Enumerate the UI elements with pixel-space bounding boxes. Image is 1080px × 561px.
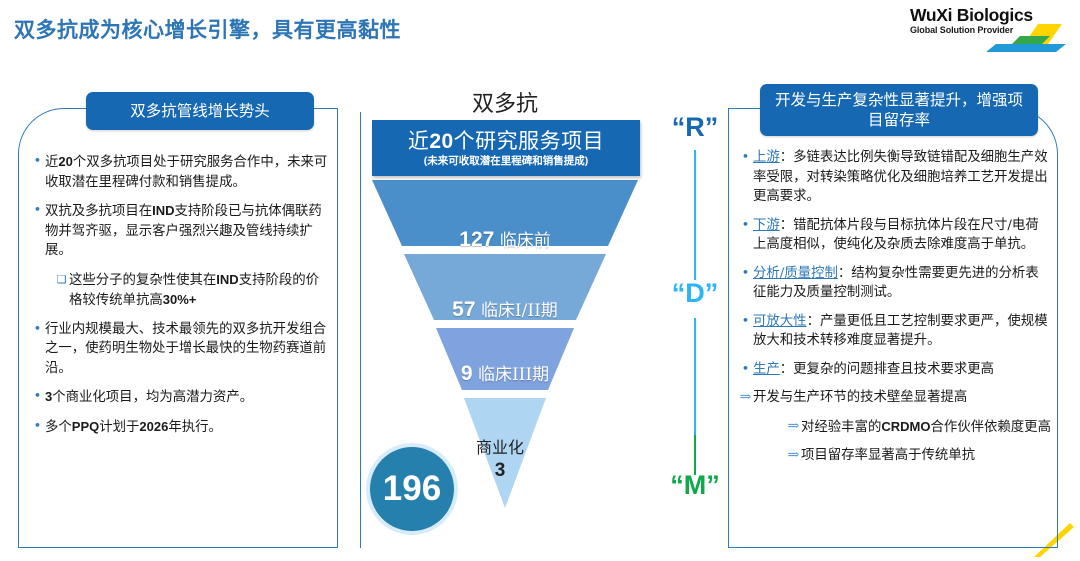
logo-tagline: Global Solution Provider (910, 25, 1070, 36)
bullet-marker: • (30, 320, 45, 340)
list-item: ⇒ 项目留存率显著高于传统单抗 (786, 446, 1052, 466)
bullet-key-term: 可放大性 (753, 314, 807, 329)
bullet-text: 多个PPQ计划于2026年执行。 (45, 417, 330, 438)
funnel-stage-3-label: 临床III期 (478, 365, 549, 385)
bullet-key-term: 生产 (753, 362, 780, 377)
rdm-label-manufacturing: “M” (655, 470, 735, 501)
bullet-text: 分析/质量控制：结构复杂性需要更先进的分析表征能力及质量控制测试。 (753, 264, 1052, 303)
bullet-marker: • (738, 148, 753, 168)
list-item: • 双抗及多抗项目在IND支持阶段已与抗体偶联药物并驾齐驱，显示客户强烈兴趣及管… (30, 201, 330, 261)
rdm-connector-line-1 (694, 150, 696, 280)
page-title: 双多抗成为核心增长引擎，具有更高黏性 (14, 14, 401, 44)
bullet-marker: • (30, 387, 45, 407)
bullet-body: ：错配抗体片段与目标抗体片段在尺寸/电荷上高度相似，使纯化及杂质去除难度高于单抗… (753, 218, 1039, 253)
list-item: • 3个商业化项目，均为高潜力资产。 (30, 387, 330, 408)
bullet-marker: • (738, 312, 753, 332)
wuxi-biologics-logo: WuXi Biologics Global Solution Provider (910, 6, 1070, 52)
bullet-text: 这些分子的复杂性使其在IND支持阶段的价格较传统单抗高30%+ (69, 270, 330, 311)
right-panel-bullets: • 上游：多链表达比例失衡导致链错配及细胞生产效率受限，对转染策略优化及细胞培养… (738, 148, 1052, 475)
funnel-stage-1: 127 临床前 (360, 226, 650, 252)
bullet-text: 对经验丰富的CRDMO合作伙伴依赖度更高 (801, 417, 1052, 438)
funnel-top-banner: 近20个研究服务项目 (未来可收取潜在里程碑和销售提成) (372, 120, 640, 176)
bullet-body: ：更复杂的问题排查且技术要求更高 (780, 362, 994, 377)
rdm-label-development: “D” (655, 278, 735, 309)
total-projects-badge: 196 (366, 443, 458, 535)
list-item: • 上游：多链表达比例失衡导致链错配及细胞生产效率受限，对转染策略优化及细胞培养… (738, 148, 1052, 207)
bullet-body: ：多链表达比例失衡导致链错配及细胞生产效率受限，对转染策略优化及细胞培养工艺开发… (753, 150, 1048, 204)
funnel-stage-2: 57 临床I/II期 (360, 296, 650, 322)
list-item: ⇒ 对经验丰富的CRDMO合作伙伴依赖度更高 (786, 417, 1052, 438)
list-item: ❑ 这些分子的复杂性使其在IND支持阶段的价格较传统单抗高30%+ (54, 270, 330, 311)
right-panel-header-text: 开发与生产复杂性显著提升，增强项目留存率 (768, 90, 1030, 130)
rdm-connector-line-2 (694, 318, 696, 438)
bullet-marker: • (30, 201, 45, 221)
list-item: • 分析/质量控制：结构复杂性需要更先进的分析表征能力及质量控制测试。 (738, 264, 1052, 303)
bullet-key-term: 上游 (753, 150, 780, 165)
bullet-marker: • (30, 152, 45, 172)
list-item: • 多个PPQ计划于2026年执行。 (30, 417, 330, 438)
funnel-stage-2-label: 临床I/II期 (481, 301, 558, 321)
left-panel-header: 双多抗管线增长势头 (86, 92, 314, 130)
left-panel-bullets: • 近20个双多抗项目处于研究服务合作中，未来可收取潜在里程碑付款和销售提成。 … (30, 152, 330, 446)
list-item: • 近20个双多抗项目处于研究服务合作中，未来可收取潜在里程碑付款和销售提成。 (30, 152, 330, 192)
bullet-marker-square: ❑ (54, 270, 69, 290)
funnel-top-sub: (未来可收取潜在里程碑和销售提成) (424, 155, 589, 168)
list-item: • 行业内规模最大、技术最领先的双多抗开发组合之一，使药明生物处于增长最快的生物… (30, 320, 330, 379)
bullet-marker: • (738, 264, 753, 284)
bullet-marker: • (738, 360, 753, 380)
right-panel-header: 开发与生产复杂性显著提升，增强项目留存率 (760, 84, 1038, 136)
bullet-marker: • (30, 417, 45, 437)
list-item: • 生产：更复杂的问题排查且技术要求更高 (738, 360, 1052, 380)
rdm-label-research: “R” (655, 112, 735, 143)
funnel-top-main: 近20个研究服务项目 (408, 129, 604, 154)
funnel-stage-3-count: 9 (461, 362, 473, 385)
bullet-marker: • (738, 216, 753, 236)
funnel-stage-1-label: 临床前 (500, 231, 551, 251)
funnel-stage-4-label: 商业化 (476, 438, 524, 457)
bullet-text: 双抗及多抗项目在IND支持阶段已与抗体偶联药物并驾齐驱，显示客户强烈兴趣及管线持… (45, 201, 330, 261)
bullet-text: 下游：错配抗体片段与目标抗体片段在尺寸/电荷上高度相似，使纯化及杂质去除难度高于… (753, 216, 1052, 255)
bullet-text: 项目留存率显著高于传统单抗 (801, 446, 1052, 466)
list-item: • 可放大性：产量更低且工艺控制要求更严，使规模放大和技术转移难度显著提升。 (738, 312, 1052, 351)
bullet-text: 可放大性：产量更低且工艺控制要求更严，使规模放大和技术转移难度显著提升。 (753, 312, 1052, 351)
funnel-stage-2-count: 57 (452, 298, 475, 321)
bullet-text: 生产：更复杂的问题排查且技术要求更高 (753, 360, 1052, 380)
bullet-marker-arrow: ⇒ (738, 388, 753, 408)
rdm-connector-line-3 (694, 435, 696, 475)
funnel-title: 双多抗 (360, 86, 650, 118)
slide-canvas: 双多抗成为核心增长引擎，具有更高黏性 WuXi Biologics Global… (0, 0, 1080, 561)
bullet-text: 上游：多链表达比例失衡导致链错配及细胞生产效率受限，对转染策略优化及细胞培养工艺… (753, 148, 1052, 207)
bullet-key-term: 下游 (753, 218, 780, 233)
funnel-stage-3: 9 临床III期 (360, 360, 650, 386)
bullet-text: 3个商业化项目，均为高潜力资产。 (45, 387, 330, 408)
list-item: • 下游：错配抗体片段与目标抗体片段在尺寸/电荷上高度相似，使纯化及杂质去除难度… (738, 216, 1052, 255)
bullet-marker-arrow: ⇒ (786, 417, 801, 437)
bullet-text: 近20个双多抗项目处于研究服务合作中，未来可收取潜在里程碑付款和销售提成。 (45, 152, 330, 192)
bullet-text: 行业内规模最大、技术最领先的双多抗开发组合之一，使药明生物处于增长最快的生物药赛… (45, 320, 330, 379)
list-item: ⇒ 开发与生产环节的技术壁垒显著提高 (738, 388, 1052, 408)
funnel-stage-1-count: 127 (459, 228, 494, 251)
bullet-text: 开发与生产环节的技术壁垒显著提高 (753, 388, 1052, 408)
bullet-marker-arrow: ⇒ (786, 446, 801, 466)
bullet-key-term: 分析/质量控制 (753, 266, 838, 281)
logo-name: WuXi Biologics (910, 6, 1070, 25)
